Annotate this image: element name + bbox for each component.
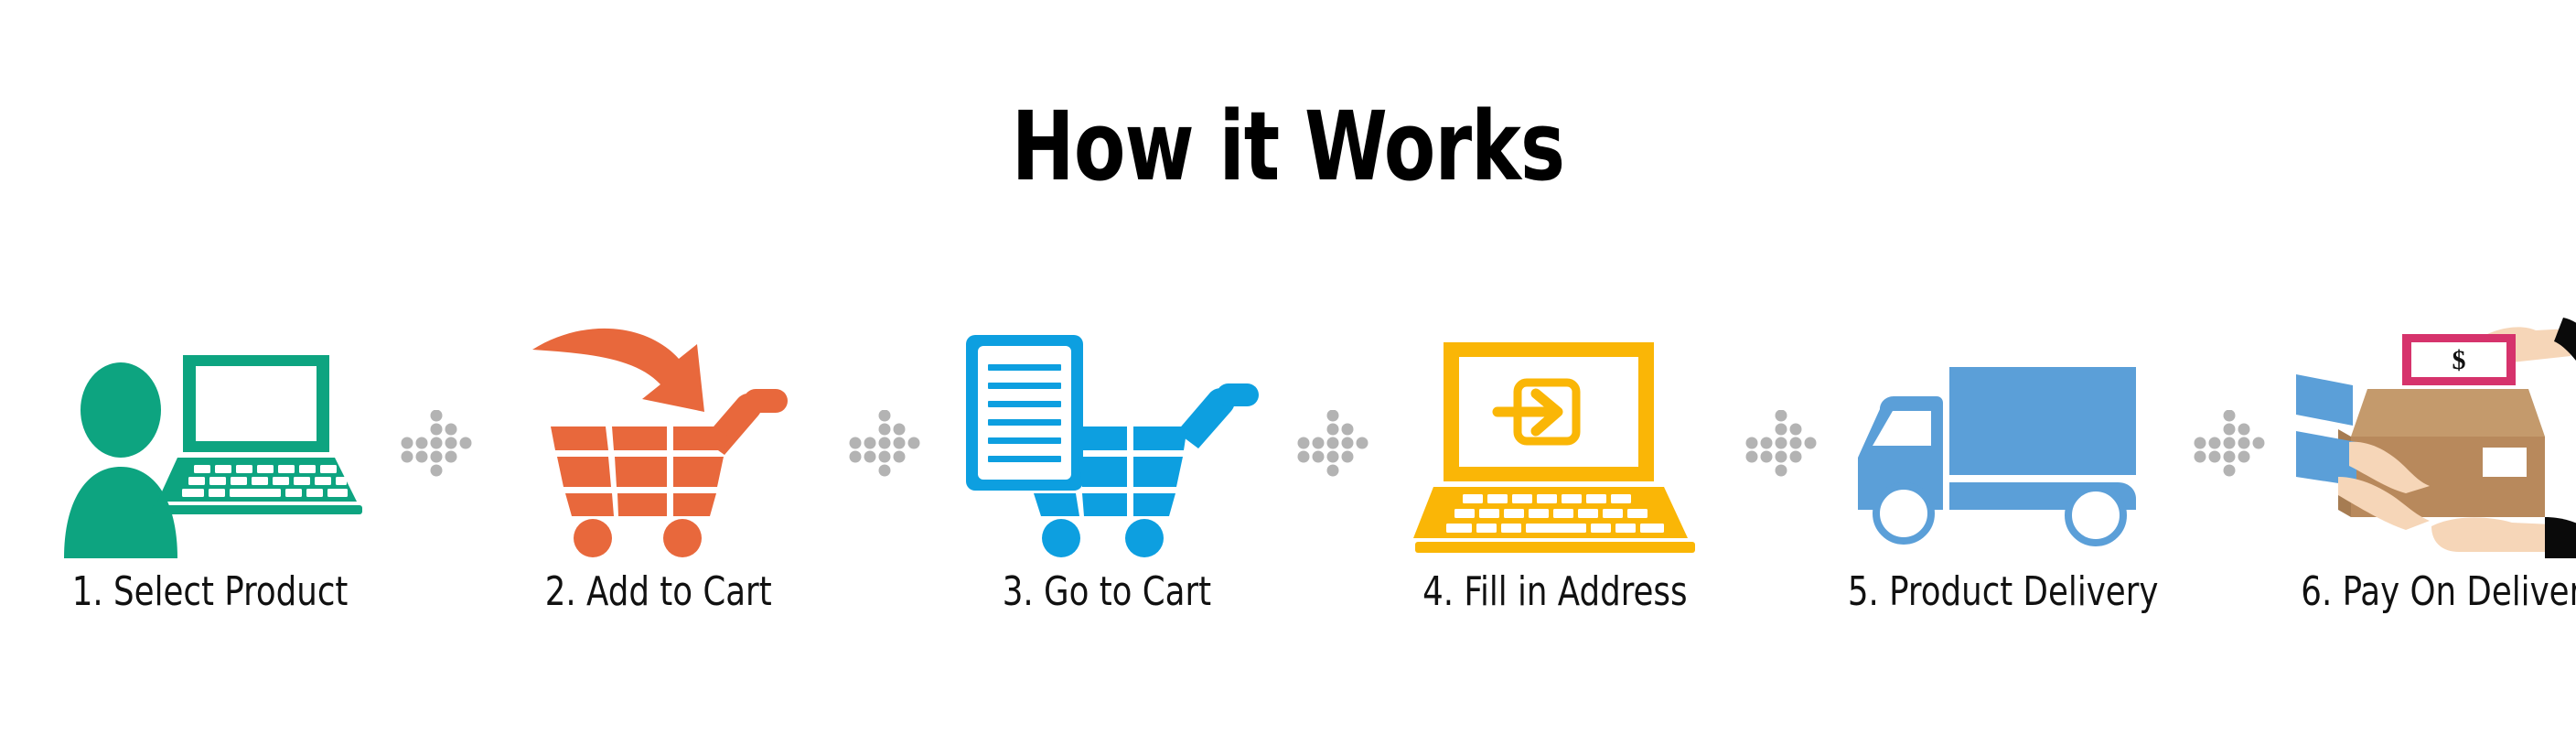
document-cart-icon	[933, 302, 1281, 558]
pay-on-delivery-icon: $	[2278, 302, 2576, 558]
dotted-arrow-icon-4	[1729, 302, 1830, 650]
step-5-label: 5. Product Delivery	[1848, 571, 2159, 613]
dotted-arrow-icon-5	[2177, 302, 2278, 650]
step-4-label: 4. Fill in Address	[1422, 571, 1687, 613]
how-it-works-infographic: How it Works	[0, 0, 2576, 745]
step-2-add-to-cart[interactable]: 2. Add to Cart	[485, 302, 832, 650]
cart-with-arrow-icon	[485, 302, 832, 558]
step-2-label: 2. Add to Cart	[545, 571, 772, 613]
person-laptop-icon	[37, 302, 384, 558]
laptop-login-icon	[1381, 302, 1729, 558]
step-3-label: 3. Go to Cart	[1003, 571, 1211, 613]
steps-strip: 1. Select Product	[37, 302, 2543, 650]
dollar-symbol: $	[2453, 345, 2466, 375]
step-3-go-to-cart[interactable]: 3. Go to Cart	[933, 302, 1281, 650]
step-5-product-delivery[interactable]: 5. Product Delivery	[1830, 302, 2177, 650]
dotted-arrow-icon-3	[1281, 302, 1381, 650]
step-6-pay-on-delivery[interactable]: $	[2278, 302, 2576, 650]
dotted-arrow-icon-1	[384, 302, 485, 650]
step-6-label: 6. Pay On Delivery	[2301, 571, 2576, 613]
step-1-label: 1. Select Product	[72, 571, 349, 613]
step-4-fill-in-address[interactable]: 4. Fill in Address	[1381, 302, 1729, 650]
step-1-select-product[interactable]: 1. Select Product	[37, 302, 384, 650]
page-title: How it Works	[155, 99, 2421, 194]
dotted-arrow-icon-2	[832, 302, 933, 650]
delivery-truck-icon	[1830, 302, 2177, 558]
